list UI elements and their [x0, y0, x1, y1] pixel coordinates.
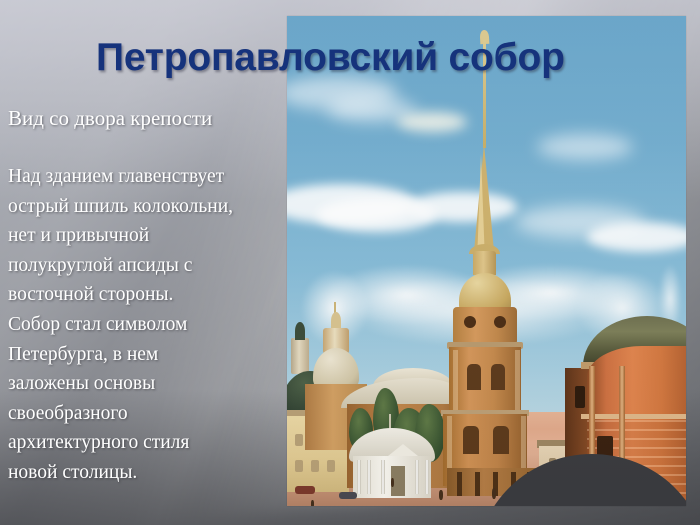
oculus-window — [494, 316, 506, 328]
cloud — [587, 222, 686, 252]
pavilion-column — [425, 460, 429, 494]
paragraph-line: острый шпиль колокольни, — [8, 192, 286, 222]
pavilion-column — [357, 460, 361, 494]
paragraph-line: Собор стал символом — [8, 310, 286, 340]
window — [295, 460, 303, 472]
paragraph-spacer — [8, 132, 286, 162]
pedestrian — [492, 488, 496, 499]
pavilion-column — [381, 460, 385, 494]
slide: Петропавловский собор Вид со двора крепо… — [0, 0, 700, 525]
paragraph-line: восточной стороны. — [8, 280, 286, 310]
paragraph-line: нет и привычной — [8, 221, 286, 251]
lead-line: Вид со двора крепости — [8, 104, 286, 132]
window — [327, 460, 335, 472]
parked-car — [339, 492, 357, 499]
oculus-window — [464, 316, 476, 328]
paragraph-line: своеобразного — [8, 399, 286, 429]
left-building-finial — [295, 322, 305, 340]
window — [311, 460, 319, 472]
cloud — [407, 192, 517, 222]
paragraph-line: Петербурга, в нем — [8, 340, 286, 370]
description-paragraph: Над зданием главенствует острый шпиль ко… — [8, 162, 286, 488]
parked-car — [295, 486, 315, 494]
pedestrian — [391, 478, 394, 487]
paragraph-line: полукруглой апсиды с — [8, 251, 286, 281]
pedestrian — [311, 500, 314, 506]
body-text-block: Вид со двора крепости Над зданием главен… — [8, 104, 286, 488]
paragraph-line: архитектурного стиля — [8, 428, 286, 458]
pedestrian — [439, 490, 443, 500]
cathedral-photo — [287, 16, 686, 506]
tower-window — [467, 364, 481, 390]
paragraph-line: заложены основы — [8, 369, 286, 399]
pavilion-column — [415, 460, 419, 494]
page-title: Петропавловский собор — [96, 36, 656, 80]
lantern — [473, 251, 496, 275]
cloud — [537, 134, 633, 160]
tower-drum — [453, 307, 517, 345]
colonnade-opening — [475, 472, 480, 496]
cloud — [397, 112, 467, 132]
tower-window — [493, 426, 509, 454]
tower-window — [491, 364, 505, 390]
window — [295, 434, 303, 446]
pavilion-column — [367, 460, 371, 494]
colonnade-opening — [457, 472, 462, 496]
left-building-lantern — [291, 338, 309, 374]
boathouse-string-course — [581, 414, 686, 419]
paragraph-line: Над зданием главенствует — [8, 162, 286, 192]
boathouse-window — [575, 386, 585, 408]
tower-window — [463, 426, 479, 454]
paragraph-line: новой столицы. — [8, 458, 286, 488]
